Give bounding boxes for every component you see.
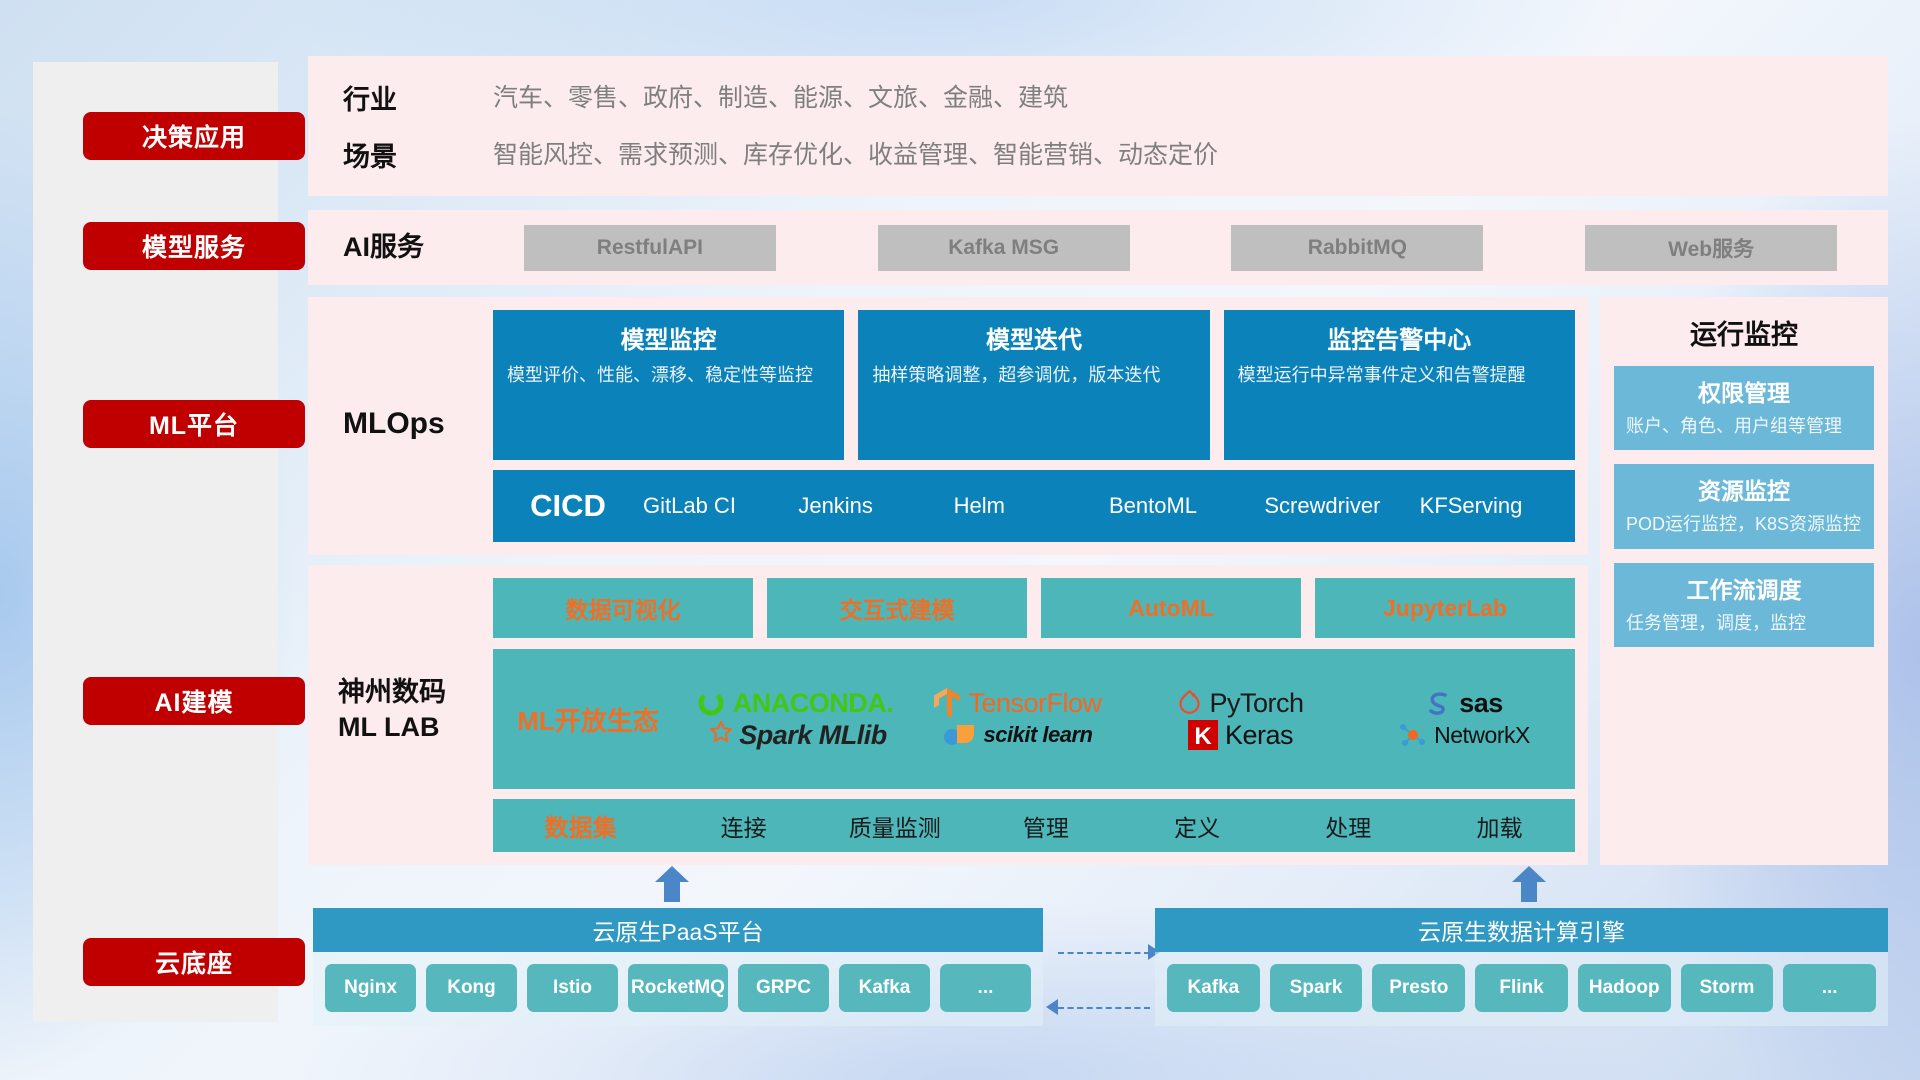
tool-interactive-modeling[interactable]: 交互式建模 xyxy=(767,578,1027,638)
card-title: 资源监控 xyxy=(1626,472,1862,506)
ml-ecosystem-label: ML开放生态 xyxy=(493,701,683,738)
cicd-item-helm[interactable]: Helm xyxy=(954,493,1109,518)
engine-pill-more[interactable]: ... xyxy=(1783,964,1876,1012)
cicd-item-gitlab-ci[interactable]: GitLab CI xyxy=(643,493,798,518)
diagram-canvas: 决策应用 模型服务 ML平台 AI建模 云底座 行业 汽车、零售、政府、制造、能… xyxy=(0,0,1920,1080)
arrow-up-right-icon xyxy=(1512,866,1546,902)
dataset-item-manage[interactable]: 管理 xyxy=(970,809,1121,843)
engine-pill-presto[interactable]: Presto xyxy=(1372,964,1465,1012)
rail-chip-ai-modeling[interactable]: AI建模 xyxy=(83,677,305,725)
tensorflow-icon xyxy=(933,687,961,719)
card-title: 工作流调度 xyxy=(1626,571,1862,605)
mlops-card-alert-center[interactable]: 监控告警中心 模型运行中异常事件定义和告警提醒 xyxy=(1224,310,1575,460)
card-title: 模型监控 xyxy=(507,320,830,355)
card-desc: 模型运行中异常事件定义和告警提醒 xyxy=(1238,363,1561,387)
engine-pill-hadoop[interactable]: Hadoop xyxy=(1578,964,1671,1012)
paas-pill-istio[interactable]: Istio xyxy=(527,964,618,1012)
ai-service-panel: AI服务 RestfulAPI Kafka MSG RabbitMQ Web服务 xyxy=(308,210,1888,285)
arrow-up-left-icon xyxy=(655,866,689,902)
paas-pill-kafka[interactable]: Kafka xyxy=(839,964,930,1012)
dataset-item-load[interactable]: 加载 xyxy=(1424,809,1575,843)
spark-mllib-label: Spark MLlib xyxy=(739,720,887,751)
spark-star-icon xyxy=(702,721,732,749)
card-desc: POD运行监控，K8S资源监控 xyxy=(1626,512,1862,536)
mon-card-resource[interactable]: 资源监控 POD运行监控，K8S资源监控 xyxy=(1614,464,1874,548)
paas-pill-more[interactable]: ... xyxy=(940,964,1031,1012)
dataset-item-process[interactable]: 处理 xyxy=(1273,809,1424,843)
networkx-logo: NetworkX xyxy=(1397,720,1530,750)
tensorflow-label: TensorFlow xyxy=(968,688,1101,719)
keras-label: Keras xyxy=(1225,720,1293,751)
rail-chip-ml-platform[interactable]: ML平台 xyxy=(83,400,305,448)
card-title: 模型迭代 xyxy=(872,320,1195,355)
pytorch-icon xyxy=(1177,688,1202,718)
sas-label: sas xyxy=(1459,688,1503,719)
scikit-learn-label: scikit learn xyxy=(984,722,1093,748)
industry-value: 汽车、零售、政府、制造、能源、文旅、金融、建筑 xyxy=(493,78,1888,117)
rail-chip-decision-app[interactable]: 决策应用 xyxy=(83,112,305,160)
sas-icon xyxy=(1424,689,1452,717)
engine-pill-spark[interactable]: Spark xyxy=(1270,964,1363,1012)
industry-label: 行业 xyxy=(343,78,493,117)
paas-pill-kong[interactable]: Kong xyxy=(426,964,517,1012)
cicd-item-kfserving[interactable]: KFServing xyxy=(1420,493,1575,518)
anaconda-label: ANACONDA. xyxy=(733,688,894,719)
mon-card-permission[interactable]: 权限管理 账户、角色、用户组等管理 xyxy=(1614,366,1874,450)
networkx-label: NetworkX xyxy=(1434,722,1530,749)
tool-automl[interactable]: AutoML xyxy=(1041,578,1301,638)
ai-service-label: AI服务 xyxy=(343,231,473,265)
layer-rail: 决策应用 模型服务 ML平台 AI建模 云底座 xyxy=(33,62,278,1022)
cicd-item-jenkins[interactable]: Jenkins xyxy=(798,493,953,518)
dataset-item-quality-check[interactable]: 质量监测 xyxy=(819,809,970,843)
sas-logo: sas xyxy=(1424,688,1503,719)
dashed-connector-bottom xyxy=(1058,1007,1150,1009)
scenario-label: 场景 xyxy=(343,135,493,174)
dataset-label: 数据集 xyxy=(493,808,668,843)
card-desc: 任务管理，调度，监控 xyxy=(1626,611,1862,635)
dashed-connector-top xyxy=(1058,952,1150,954)
scikit-learn-logo: scikit learn xyxy=(943,720,1093,750)
tensorflow-logo: TensorFlow xyxy=(933,687,1101,719)
engine-pill-kafka[interactable]: Kafka xyxy=(1167,964,1260,1012)
card-desc: 抽样策略调整，超参调优，版本迭代 xyxy=(872,363,1195,387)
cloud-paas-title: 云原生PaaS平台 xyxy=(313,908,1043,952)
mlops-card-model-monitoring[interactable]: 模型监控 模型评价、性能、漂移、稳定性等监控 xyxy=(493,310,844,460)
spark-mllib-logo: Spark MLlib xyxy=(702,720,887,751)
rail-chip-cloud-base[interactable]: 云底座 xyxy=(83,938,305,986)
tool-data-visualization[interactable]: 数据可视化 xyxy=(493,578,753,638)
dataset-row: 数据集 连接 质量监测 管理 定义 处理 加载 xyxy=(493,799,1575,852)
application-panel: 行业 汽车、零售、政府、制造、能源、文旅、金融、建筑 场景 智能风控、需求预测、… xyxy=(308,56,1888,196)
scikit-learn-icon xyxy=(943,720,977,750)
keras-logo: K Keras xyxy=(1188,720,1293,751)
cicd-item-screwdriver[interactable]: Screwdriver xyxy=(1264,493,1419,518)
anaconda-logo: ANACONDA. xyxy=(696,688,894,719)
mlops-panel: MLOps 模型监控 模型评价、性能、漂移、稳定性等监控 模型迭代 抽样策略调整… xyxy=(308,297,1588,555)
rail-chip-model-service[interactable]: 模型服务 xyxy=(83,222,305,270)
ai-modeling-panel: 神州数码 ML LAB 数据可视化 交互式建模 AutoML JupyterLa… xyxy=(308,565,1588,865)
anaconda-icon xyxy=(696,688,726,718)
tool-jupyterlab[interactable]: JupyterLab xyxy=(1315,578,1575,638)
service-rabbitmq[interactable]: RabbitMQ xyxy=(1231,225,1483,271)
runtime-monitoring-panel: 运行监控 权限管理 账户、角色、用户组等管理 资源监控 POD运行监控，K8S资… xyxy=(1600,297,1888,865)
cicd-label: CICD xyxy=(493,488,643,524)
service-kafka-msg[interactable]: Kafka MSG xyxy=(878,225,1130,271)
card-desc: 账户、角色、用户组等管理 xyxy=(1626,414,1862,438)
card-title: 权限管理 xyxy=(1626,374,1862,408)
engine-pill-flink[interactable]: Flink xyxy=(1475,964,1568,1012)
keras-icon: K xyxy=(1188,720,1218,750)
cicd-row: CICD GitLab CI Jenkins Helm BentoML Scre… xyxy=(493,470,1575,542)
scenario-value: 智能风控、需求预测、库存优化、收益管理、智能营销、动态定价 xyxy=(493,135,1888,174)
card-title: 监控告警中心 xyxy=(1238,320,1561,355)
paas-pill-rocketmq[interactable]: RocketMQ xyxy=(628,964,728,1012)
mlops-card-model-iteration[interactable]: 模型迭代 抽样策略调整，超参调优，版本迭代 xyxy=(858,310,1209,460)
ml-lab-label-line2: ML LAB xyxy=(338,710,498,745)
ml-lab-label-line1: 神州数码 xyxy=(338,675,498,710)
pytorch-label: PyTorch xyxy=(1209,688,1303,719)
engine-pill-storm[interactable]: Storm xyxy=(1681,964,1774,1012)
cicd-item-bentoml[interactable]: BentoML xyxy=(1109,493,1264,518)
runtime-monitoring-title: 运行监控 xyxy=(1600,313,1888,352)
cloud-data-engine-box: 云原生数据计算引擎 Kafka Spark Presto Flink Hadoo… xyxy=(1155,908,1888,1026)
ml-lab-label: 神州数码 ML LAB xyxy=(338,675,498,745)
dashed-arrow-left-icon xyxy=(1046,999,1058,1015)
mlops-label: MLOps xyxy=(343,405,493,443)
dataset-item-define[interactable]: 定义 xyxy=(1122,809,1273,843)
cloud-data-engine-title: 云原生数据计算引擎 xyxy=(1155,908,1888,952)
networkx-icon xyxy=(1397,720,1427,750)
svg-text:K: K xyxy=(1194,723,1212,750)
service-web[interactable]: Web服务 xyxy=(1585,225,1837,271)
service-restful-api[interactable]: RestfulAPI xyxy=(524,225,776,271)
card-desc: 模型评价、性能、漂移、稳定性等监控 xyxy=(507,363,830,387)
pytorch-logo: PyTorch xyxy=(1177,688,1303,719)
ml-ecosystem-row: ML开放生态 ANACONDA. TensorFlow xyxy=(493,649,1575,789)
paas-pill-grpc[interactable]: GRPC xyxy=(738,964,829,1012)
dataset-item-connect[interactable]: 连接 xyxy=(668,809,819,843)
mon-card-workflow[interactable]: 工作流调度 任务管理，调度，监控 xyxy=(1614,563,1874,647)
paas-pill-nginx[interactable]: Nginx xyxy=(325,964,416,1012)
cloud-paas-box: 云原生PaaS平台 Nginx Kong Istio RocketMQ GRPC… xyxy=(313,908,1043,1026)
